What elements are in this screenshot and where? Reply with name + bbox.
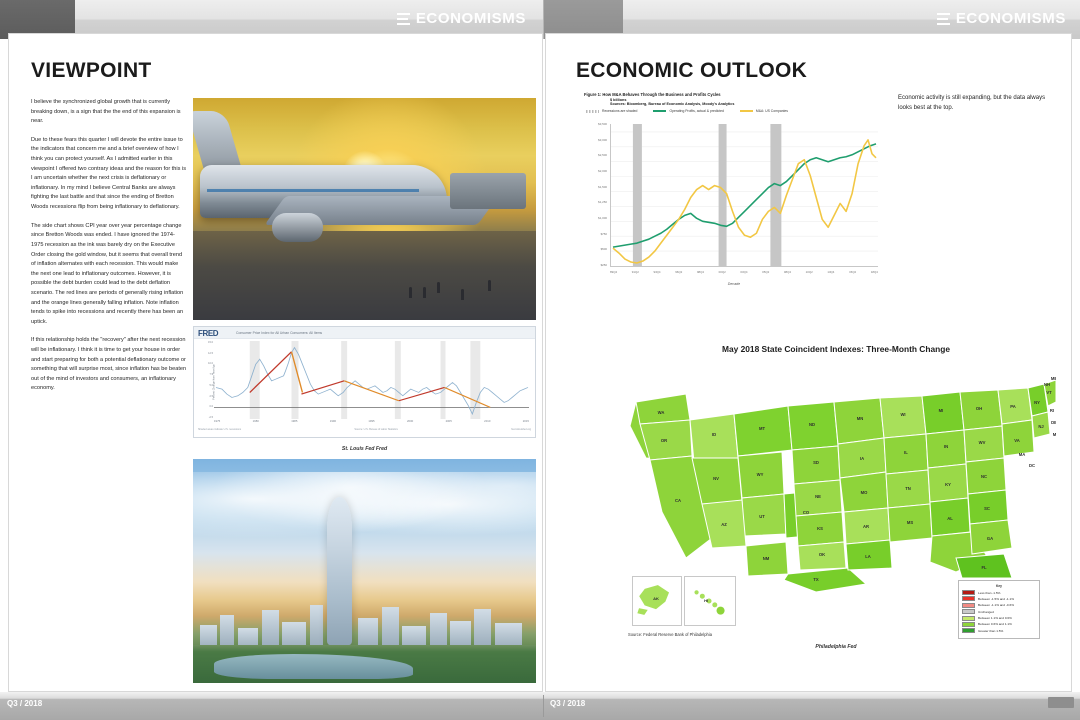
legend-row: Between 0.6% and 1.1% <box>962 622 1036 627</box>
recession-band <box>633 124 642 266</box>
svg-text:FL: FL <box>981 565 987 570</box>
map-legend: Key Less than -1.5% Between -1.5% and -1… <box>958 580 1040 639</box>
y-tick: $1,250 <box>598 200 607 204</box>
svg-text:KS: KS <box>817 526 823 531</box>
x-tick: 03Q4 <box>740 270 747 279</box>
footer-page-label-right: Q3 / 2018 <box>550 699 585 708</box>
svg-text:PA: PA <box>1010 404 1016 409</box>
x-tick: 13Q4 <box>827 270 834 279</box>
svg-text:DC: DC <box>1029 463 1035 468</box>
inset-hi-label: HI <box>704 598 708 603</box>
fred-wordmark: FRED <box>198 329 218 338</box>
page-seam-top <box>543 0 544 39</box>
legend-label: Between -1.5% and -1.1% <box>978 597 1014 601</box>
photo-airliner-sunset <box>193 98 536 320</box>
legend-label: Greater than 1.5% <box>978 629 1003 633</box>
y-tick: $3,000 <box>598 138 607 142</box>
legend-row: Unchanged <box>962 609 1036 614</box>
page-title-economic-outlook: ECONOMIC OUTLOOK <box>576 59 807 83</box>
y-tick: $750 <box>601 232 607 236</box>
svg-text:GA: GA <box>987 536 993 541</box>
page-seam-bottom <box>543 695 544 717</box>
landmark-tower <box>327 497 353 645</box>
us-states-choropleth: WAOR CAID NVMT WYUT AZNM COND SDNE KSOK … <box>616 362 1056 592</box>
gridlines <box>611 132 878 251</box>
svg-text:ND: ND <box>809 422 815 427</box>
fred-cpi-chart: FRED Consumer Price Index for All Urban … <box>193 326 536 452</box>
ma-y-axis-ticks: $3,500 $3,000 $2,500 $2,000 $1,500 $1,25… <box>584 122 609 267</box>
x-tick: 2000 <box>407 419 413 427</box>
fred-x-axis-ticks: 1975 1980 1985 1990 1995 2000 2005 2010 … <box>214 419 529 427</box>
hawaii-shape: HI <box>685 577 735 625</box>
y-tick: 10.0 <box>208 362 213 365</box>
legend-swatch-ma <box>740 110 753 112</box>
y-tick: 12.5 <box>208 352 213 355</box>
svg-text:NV: NV <box>713 476 719 481</box>
passenger-figure <box>488 280 491 291</box>
svg-text:KY: KY <box>945 482 951 487</box>
fred-source-right: fred.stlouisfed.org <box>511 428 531 435</box>
svg-text:AR: AR <box>863 524 869 529</box>
y-tick: $2,000 <box>598 169 607 173</box>
svg-text:MN: MN <box>857 416 864 421</box>
svg-text:RI: RI <box>1050 408 1054 413</box>
jet-bridge <box>450 173 525 209</box>
tarmac <box>193 231 536 320</box>
horizontal-scrollbar-thumb[interactable] <box>1048 697 1074 708</box>
legend-label: Recessions are shaded <box>602 109 637 113</box>
state-MT <box>734 406 792 456</box>
svg-text:MA: MA <box>1019 452 1026 457</box>
svg-text:WV: WV <box>979 440 986 445</box>
ma-chart-svg <box>611 124 878 266</box>
state-WI <box>880 396 926 438</box>
clouds <box>193 472 536 548</box>
x-tick: 2010 <box>484 419 490 427</box>
svg-text:NE: NE <box>815 494 821 499</box>
state-MI <box>922 392 964 434</box>
x-tick: 89Q4 <box>610 270 617 279</box>
figure-source: Sources: Bloomberg, Bureau of Economic A… <box>610 102 884 106</box>
x-tick: 2015 <box>523 419 529 427</box>
svg-text:MS: MS <box>907 520 913 525</box>
x-tick: 1990 <box>330 419 336 427</box>
legend-swatch <box>962 603 975 608</box>
x-tick: 93Q4 <box>653 270 660 279</box>
viewer-bottom-bar: Q3 / 2018 Q3 / 2018 <box>0 692 1080 720</box>
svg-text:AZ: AZ <box>721 522 727 527</box>
airliner-illustration <box>193 98 536 320</box>
svg-text:LA: LA <box>865 554 871 559</box>
svg-text:WI: WI <box>900 412 905 417</box>
y-tick: $500 <box>601 247 607 251</box>
legend-row: Between -1.5% and -1.1% <box>962 596 1036 601</box>
passenger-figure <box>423 287 426 298</box>
inset-map-alaska: AK <box>632 576 682 626</box>
legend-label: Between 0.6% and 1.1% <box>978 622 1012 626</box>
fred-chart-card: FRED Consumer Price Index for All Urban … <box>193 326 536 438</box>
map-title: May 2018 State Coincident Indexes: Three… <box>616 344 1056 354</box>
ma-x-axis-ticks: 89Q4 91Q2 93Q4 96Q2 98Q4 00Q2 03Q4 05Q2 … <box>610 270 878 279</box>
legend-label: Less than -1.5% <box>978 591 1000 595</box>
y-tick: 2.5 <box>210 395 213 398</box>
legend-swatch <box>962 590 975 595</box>
svg-text:WY: WY <box>757 472 764 477</box>
svg-text:IA: IA <box>860 456 864 461</box>
svg-text:MD: MD <box>1053 432 1056 437</box>
fred-source-center: Source: U.S. Bureau of Labor Statistics <box>354 428 398 435</box>
brand-logo-left-page: ECONOMISMS <box>397 10 526 27</box>
y-tick: $1,500 <box>598 185 607 189</box>
fred-plot-area <box>214 341 529 419</box>
ma-plot-area <box>610 124 878 267</box>
legend-row: Less than -1.5% <box>962 590 1036 595</box>
economisms-mark-icon <box>937 12 950 26</box>
paragraph-4: If this relationship holds the "recovery… <box>31 336 187 394</box>
svg-text:NM: NM <box>763 556 770 561</box>
legend-entry-recessions: Recessions are shaded <box>586 109 637 113</box>
recession-band <box>770 124 781 266</box>
paragraph-2: Due to these fears this quarter I will d… <box>31 136 187 213</box>
y-tick: $2,500 <box>598 153 607 157</box>
svg-text:NY: NY <box>1034 400 1040 405</box>
svg-text:IN: IN <box>944 444 948 449</box>
fred-chart-caption: St. Louis Fed Fred <box>193 446 536 452</box>
alaska-shape: AK <box>633 577 681 625</box>
x-tick: 15Q2 <box>849 270 856 279</box>
inset-ak-label: AK <box>653 596 659 601</box>
map-caption: Philadelphia Fed <box>616 644 1056 650</box>
paragraph-1: I believe the synchronized global growth… <box>31 98 187 127</box>
legend-title: Key <box>962 584 1036 588</box>
legend-swatch <box>962 628 975 633</box>
ma-business-cycle-chart: Figure 1: How M&A Behaves Through the Bu… <box>584 92 884 337</box>
fred-chart-subtitle: Consumer Price Index for All Urban Consu… <box>236 331 532 335</box>
figure-legend: Recessions are shaded Operating Profits,… <box>586 109 884 113</box>
x-tick: 91Q2 <box>632 270 639 279</box>
y-tick: 0.0 <box>210 405 213 408</box>
legend-row: Between 1.1% and 0.6% <box>962 616 1036 621</box>
x-tick: 18Q4 <box>871 270 878 279</box>
x-tick: 2005 <box>446 419 452 427</box>
legend-label: Operating Profits, actual & predicted <box>669 109 723 113</box>
y-tick: 5.0 <box>210 384 213 387</box>
viewpoint-body-text: I believe the synchronized global growth… <box>31 98 187 403</box>
legend-swatch <box>962 622 975 627</box>
svg-text:ME: ME <box>1051 376 1056 381</box>
legend-row: Between -1.1% and -0.6% <box>962 603 1036 608</box>
svg-text:WA: WA <box>658 410 665 415</box>
y-tick: $3,500 <box>598 122 607 126</box>
legend-label: Between -1.1% and -0.6% <box>978 603 1014 607</box>
state-SD <box>792 446 840 484</box>
x-tick: 1995 <box>368 419 374 427</box>
map-source-note: Source: Federal Reserve Bank of Philadel… <box>628 632 712 637</box>
legend-entry-ma: M&A: US Companies <box>740 109 788 113</box>
svg-text:TX: TX <box>813 577 819 582</box>
svg-text:AL: AL <box>947 516 953 521</box>
svg-text:NC: NC <box>981 474 987 479</box>
economisms-mark-icon <box>397 12 410 26</box>
svg-text:OH: OH <box>976 406 982 411</box>
svg-text:ID: ID <box>712 432 716 437</box>
ma-x-axis-label: Decade <box>584 282 884 286</box>
x-tick: 00Q2 <box>719 270 726 279</box>
fred-chart-footer: Shaded areas indicate U.S. recessions So… <box>198 428 531 435</box>
brand-logo-right-page: ECONOMISMS <box>937 10 1066 27</box>
state-MN <box>834 398 884 444</box>
recession-band <box>719 124 727 266</box>
document-viewer: ECONOMISMS ECONOMISMS VIEWPOINT I believ… <box>0 0 1080 720</box>
x-tick: 05Q2 <box>762 270 769 279</box>
inset-map-hawaii: HI <box>684 576 736 626</box>
page-right: ECONOMIC OUTLOOK Economic activity is st… <box>545 33 1072 692</box>
legend-entry-profits: Operating Profits, actual & predicted <box>653 109 723 113</box>
state-TX <box>784 568 866 592</box>
x-tick: 96Q2 <box>675 270 682 279</box>
state-IN <box>926 430 966 468</box>
svg-text:CO: CO <box>803 510 810 515</box>
y-tick: $1,000 <box>598 216 607 220</box>
state-ID <box>690 414 738 462</box>
passenger-figure <box>461 289 464 300</box>
legend-swatch <box>962 596 975 601</box>
passenger-figure <box>409 287 412 298</box>
y-tick: 15.0 <box>208 341 213 344</box>
economic-outlook-sidenote: Economic activity is still expanding, bu… <box>898 94 1048 113</box>
series-operating-profits <box>613 144 876 247</box>
legend-label: Between 1.1% and 0.6% <box>978 616 1012 620</box>
brand-name-right: ECONOMISMS <box>956 10 1066 27</box>
plane-engine <box>272 213 323 242</box>
svg-text:OK: OK <box>819 552 825 557</box>
state-WA <box>636 394 690 424</box>
y-tick: -2.5 <box>209 416 213 419</box>
svg-text:IL: IL <box>904 450 908 455</box>
page-title-viewpoint: VIEWPOINT <box>31 59 152 83</box>
svg-text:TN: TN <box>905 486 911 491</box>
fred-source-left: Shaded areas indicate U.S. recessions <box>198 428 241 435</box>
legend-label: Unchanged <box>978 610 994 614</box>
legend-row: Greater than 1.5% <box>962 628 1036 633</box>
legend-label: M&A: US Companies <box>756 109 788 113</box>
page-left: VIEWPOINT I believe the synchronized glo… <box>8 33 543 692</box>
y-tick: 7.5 <box>210 373 213 376</box>
svg-text:CA: CA <box>675 498 681 503</box>
state-coincident-index-map: May 2018 State Coincident Indexes: Three… <box>616 344 1056 674</box>
svg-text:VA: VA <box>1014 438 1020 443</box>
svg-text:MO: MO <box>861 490 868 495</box>
passenger-figure <box>437 282 440 293</box>
brand-name-left: ECONOMISMS <box>416 10 526 27</box>
svg-text:MI: MI <box>939 408 944 413</box>
plane-livery-stripe <box>207 189 420 192</box>
x-tick: 1975 <box>214 419 220 427</box>
svg-text:SC: SC <box>984 506 990 511</box>
trend-falling-2 <box>344 381 399 401</box>
x-tick: 1985 <box>291 419 297 427</box>
svg-text:MT: MT <box>759 426 765 431</box>
skyline-buildings <box>193 584 536 651</box>
fred-y-axis-ticks: 15.0 12.5 10.0 7.5 5.0 2.5 0.0 -2.5 <box>200 341 213 419</box>
photo-city-sunset <box>193 459 536 683</box>
svg-text:UT: UT <box>759 514 765 519</box>
city-illustration <box>193 459 536 683</box>
svg-text:NH: NH <box>1044 382 1050 387</box>
x-tick: 1980 <box>253 419 259 427</box>
legend-swatch <box>962 609 975 614</box>
x-tick: 08Q4 <box>784 270 791 279</box>
legend-swatch-recession <box>586 110 599 113</box>
x-tick: 98Q4 <box>697 270 704 279</box>
svg-text:SD: SD <box>813 460 819 465</box>
legend-swatch <box>962 616 975 621</box>
x-tick: 10Q2 <box>806 270 813 279</box>
legend-swatch-profits <box>653 110 666 112</box>
y-tick: $250 <box>601 263 607 267</box>
svg-text:DE: DE <box>1051 420 1056 425</box>
footer-page-label-left: Q3 / 2018 <box>7 699 42 708</box>
svg-text:OR: OR <box>661 438 667 443</box>
paragraph-3: The side chart shows CPI year over year … <box>31 222 187 328</box>
fred-cpi-svg <box>214 341 529 419</box>
svg-text:VT: VT <box>1046 390 1052 395</box>
svg-text:NJ: NJ <box>1038 424 1044 429</box>
